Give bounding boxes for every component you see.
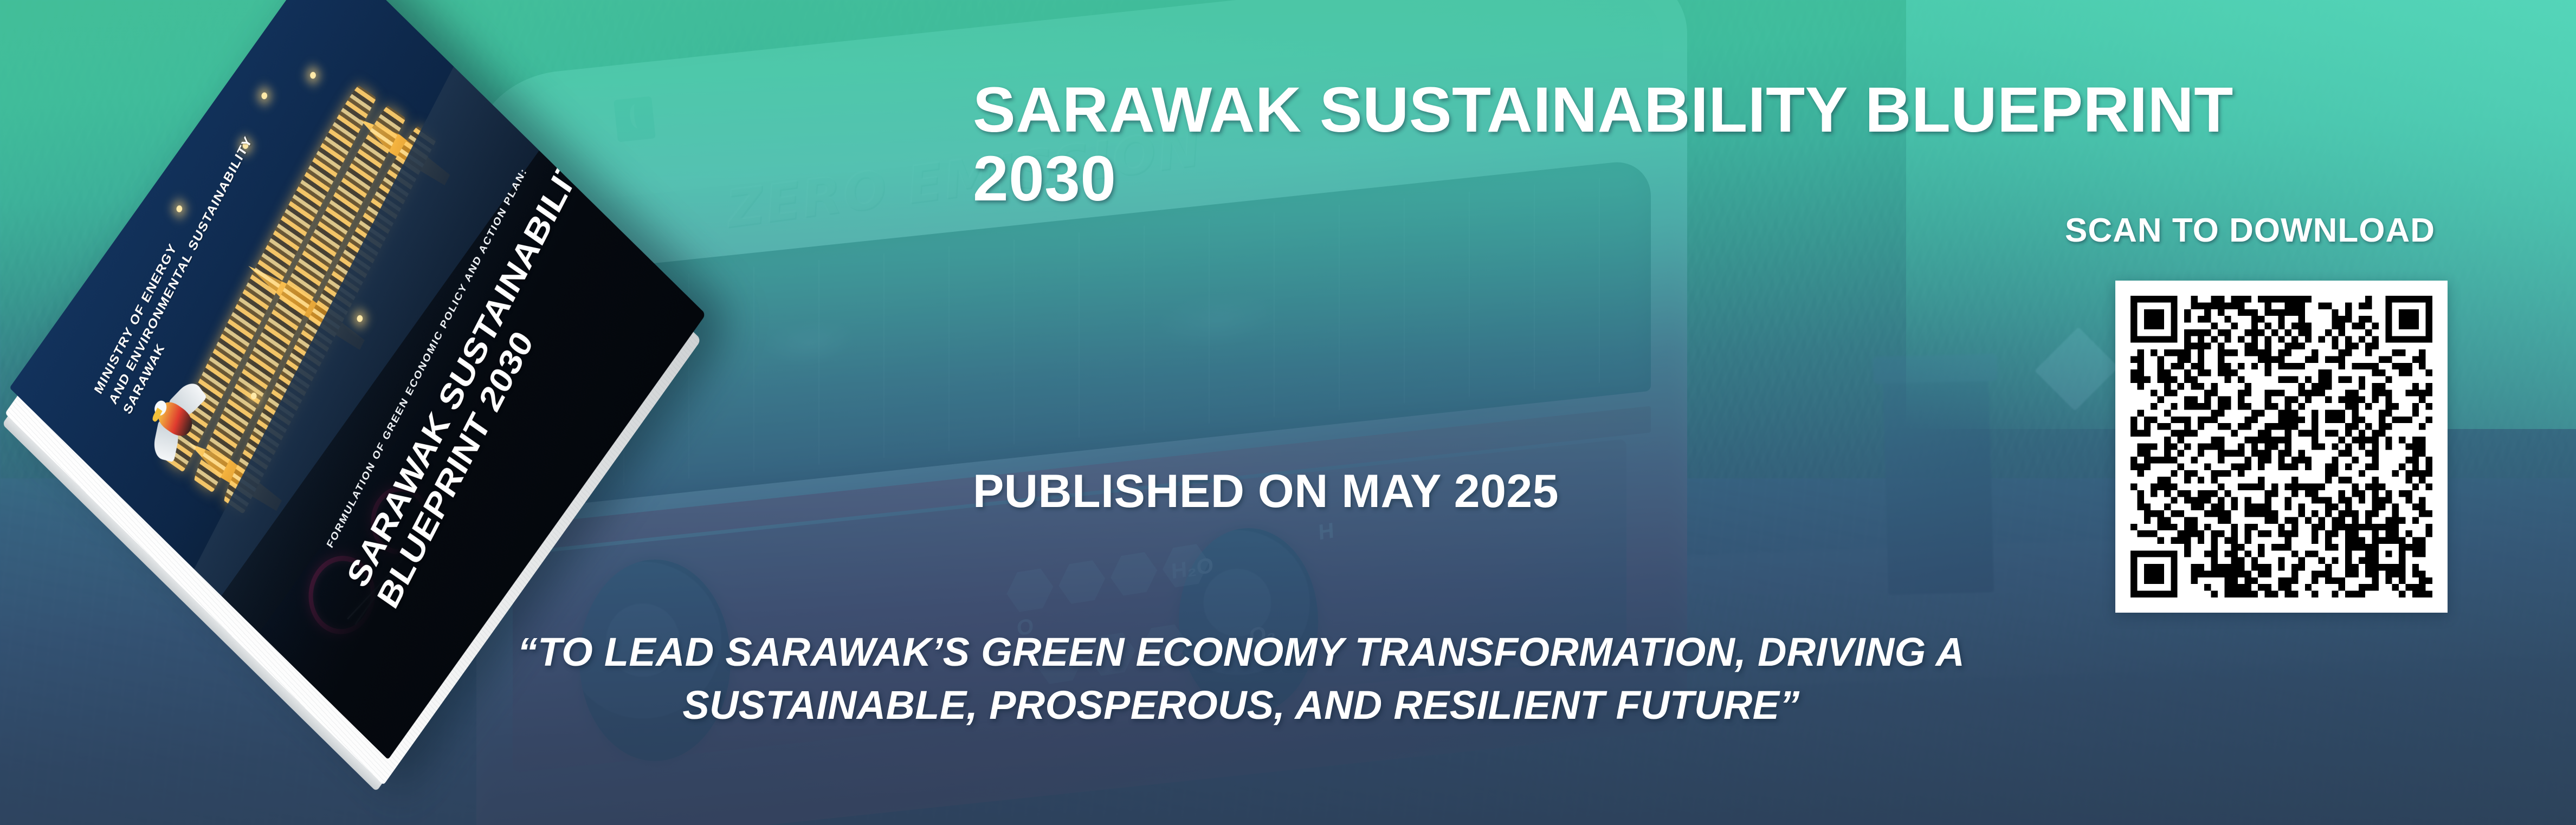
qr-code[interactable]: [2115, 281, 2448, 613]
vision-line-1: “TO LEAD SARAWAK’S GREEN ECONOMY TRANSFO…: [412, 626, 2070, 679]
qr-code-canvas[interactable]: [2130, 296, 2432, 597]
vision-line-2: SUSTAINABLE, PROSPEROUS, AND RESILIENT F…: [412, 679, 2070, 732]
publication-date: PUBLISHED ON MAY 2025: [973, 465, 1559, 518]
headline-line-1: SARAWAK SUSTAINABILITY BLUEPRINT: [973, 74, 2233, 146]
vision-statement: “TO LEAD SARAWAK’S GREEN ECONOMY TRANSFO…: [412, 626, 2070, 731]
headline-line-2: 2030: [973, 145, 2328, 213]
sarawak-sustainability-blueprint-banner: ZERO EMISSION O H₂O H O₂: [0, 0, 2576, 825]
scan-to-download-label: SCAN TO DOWNLOAD: [2065, 211, 2435, 250]
page-title: SARAWAK SUSTAINABILITY BLUEPRINT 2030: [973, 76, 2328, 214]
